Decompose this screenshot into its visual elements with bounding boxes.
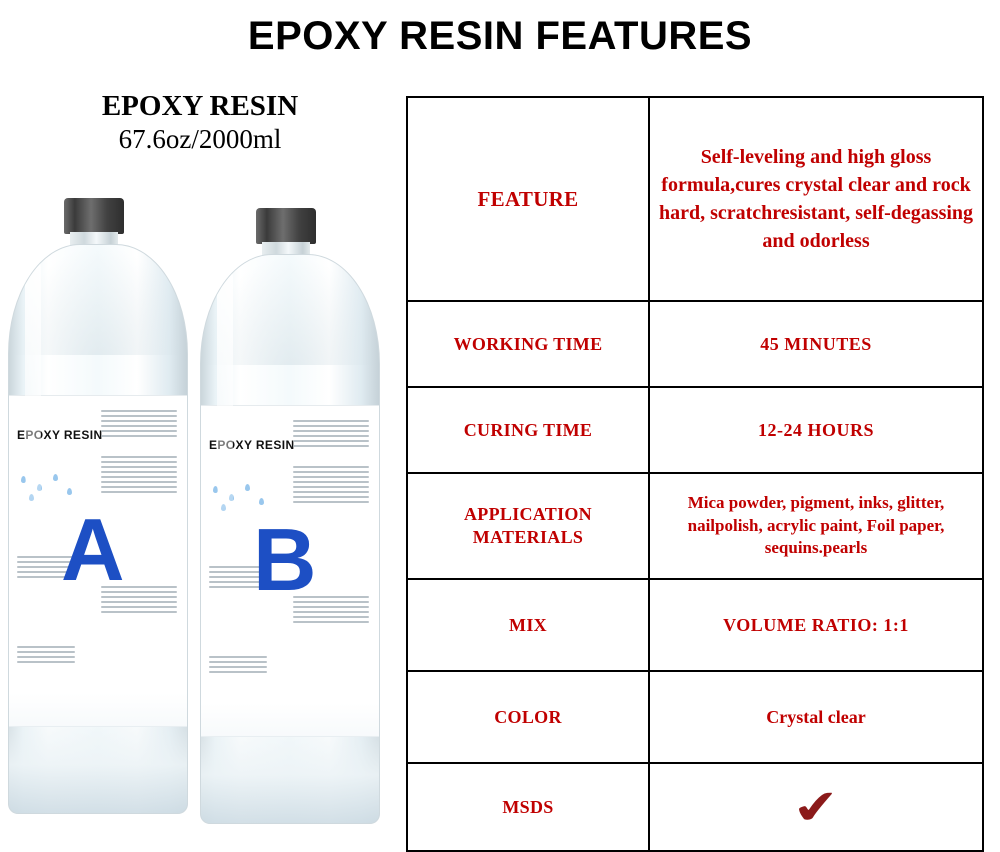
- label-brand-text: EPOXY RESIN: [17, 428, 103, 442]
- table-row-mix: MIX VOLUME RATIO: 1:1: [407, 579, 983, 671]
- row-value-working-time: 45 MINUTES: [649, 301, 983, 387]
- row-value-curing-time: 12-24 HOURS: [649, 387, 983, 473]
- bottle-bottom-shading: [201, 703, 380, 823]
- page-title: EPOXY RESIN FEATURES: [0, 14, 1000, 59]
- bottle-body: EPOXY RESIN: [200, 254, 380, 824]
- label-text-lines: [101, 410, 177, 440]
- label-text-lines: [209, 656, 267, 676]
- table-row-curing-time: CURING TIME 12-24 HOURS: [407, 387, 983, 473]
- row-value-color: Crystal clear: [649, 671, 983, 763]
- checkmark-icon: ✔: [789, 782, 843, 832]
- label-text-lines: [293, 420, 369, 450]
- bottle-cap-icon: [64, 198, 124, 234]
- row-key-feature: FEATURE: [407, 97, 649, 301]
- bottle-shoulder-shading: [201, 255, 380, 365]
- row-key-curing-time: CURING TIME: [407, 387, 649, 473]
- row-key-mix: MIX: [407, 579, 649, 671]
- bottle-body: EPOXY RESIN: [8, 244, 188, 814]
- bottle-label-b: EPOXY RESIN: [201, 405, 380, 737]
- label-brand-text: EPOXY RESIN: [209, 438, 295, 452]
- row-key-msds: MSDS: [407, 763, 649, 851]
- bottle-b: EPOXY RESIN: [200, 208, 380, 848]
- table-row-working-time: WORKING TIME 45 MINUTES: [407, 301, 983, 387]
- label-text-lines: [293, 466, 369, 506]
- product-volume: 67.6oz/2000ml: [0, 124, 400, 155]
- product-panel: EPOXY RESIN 67.6oz/2000ml EPOXY RESIN: [0, 88, 400, 848]
- row-key-application-materials: APPLICATION MATERIALS: [407, 473, 649, 579]
- table-row-color: COLOR Crystal clear: [407, 671, 983, 763]
- row-value-feature: Self-leveling and high gloss formula,cur…: [649, 97, 983, 301]
- row-key-working-time: WORKING TIME: [407, 301, 649, 387]
- label-text-lines: [17, 646, 75, 666]
- table-row-feature: FEATURE Self-leveling and high gloss for…: [407, 97, 983, 301]
- product-name: EPOXY RESIN: [0, 90, 400, 123]
- row-value-msds: ✔: [649, 763, 983, 851]
- bottle-shoulder-shading: [9, 245, 188, 355]
- product-bottles-image: EPOXY RESIN: [6, 188, 396, 848]
- row-key-line1: APPLICATION: [416, 503, 640, 526]
- label-text-lines: [101, 456, 177, 496]
- specifications-table: FEATURE Self-leveling and high gloss for…: [406, 96, 984, 852]
- row-key-color: COLOR: [407, 671, 649, 763]
- table-row-application-materials: APPLICATION MATERIALS Mica powder, pigme…: [407, 473, 983, 579]
- row-value-mix: VOLUME RATIO: 1:1: [649, 579, 983, 671]
- bottle-cap-icon: [256, 208, 316, 244]
- label-letter: B: [253, 516, 317, 604]
- row-value-application-materials: Mica powder, pigment, inks, glitter, nai…: [649, 473, 983, 579]
- row-key-line2: MATERIALS: [416, 526, 640, 549]
- bottle-label-a: EPOXY RESIN: [9, 395, 188, 727]
- table-row-msds: MSDS ✔: [407, 763, 983, 851]
- bottle-bottom-shading: [9, 693, 188, 813]
- bottle-a: EPOXY RESIN: [8, 198, 188, 838]
- label-letter: A: [61, 506, 125, 594]
